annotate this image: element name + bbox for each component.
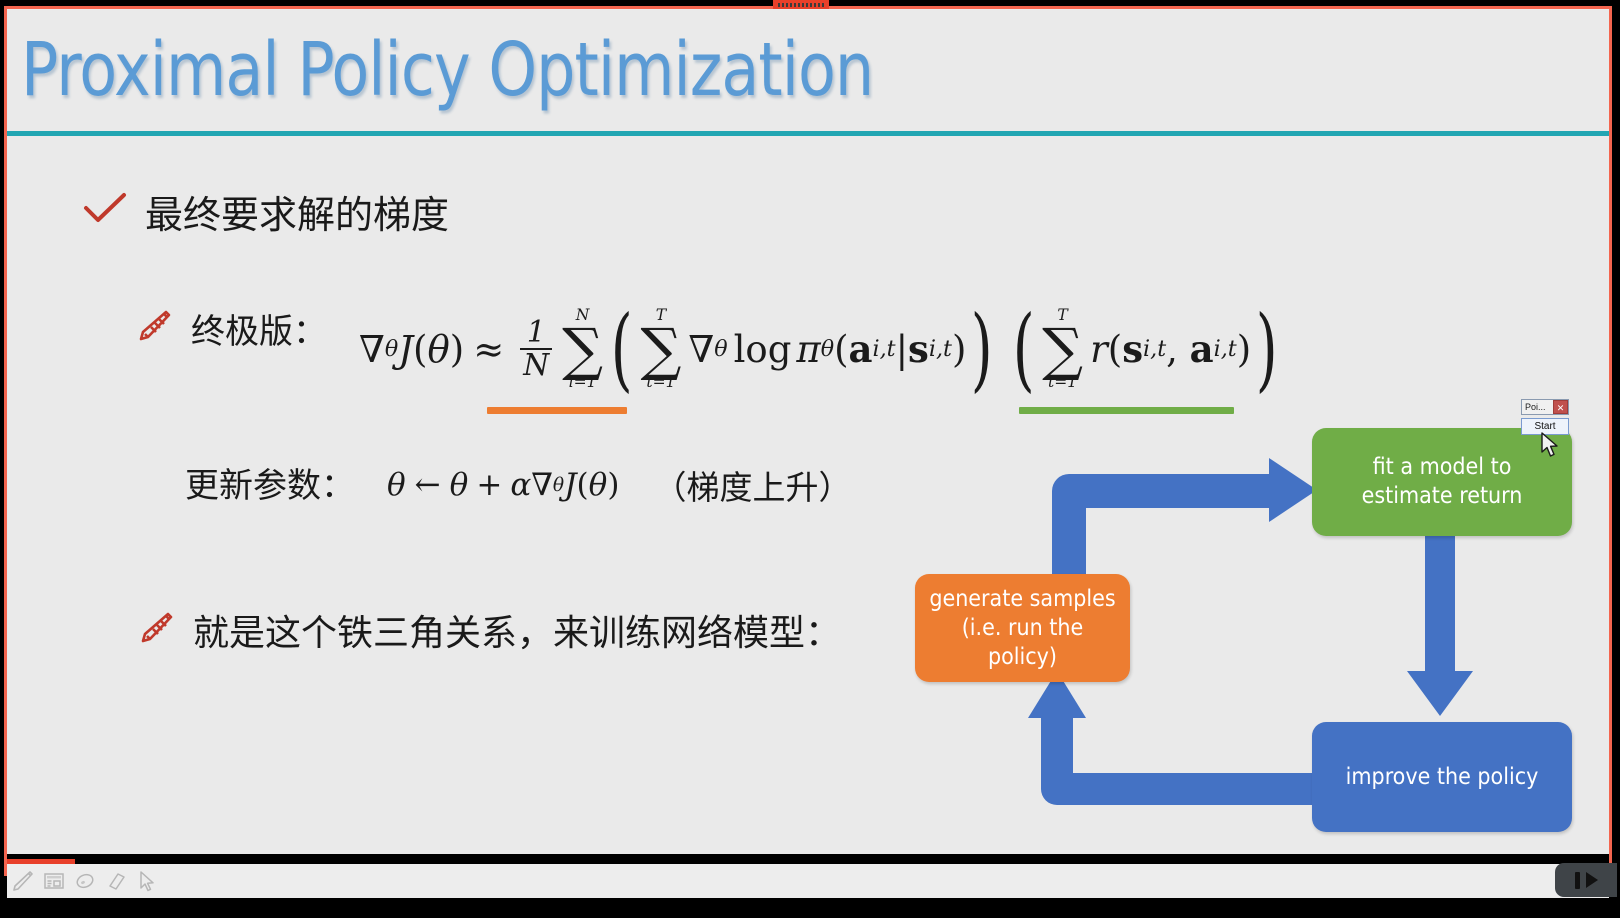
flow-box-generate-samples-label: generate samples(i.e. run the policy): [925, 585, 1120, 672]
pointer-icon[interactable]: [133, 868, 160, 895]
mouse-cursor-icon: [1541, 432, 1561, 463]
presentation-window: Proximal Policy Optimization 最终要求解的梯度: [0, 0, 1620, 918]
flow-box-improve-policy[interactable]: improve the policy: [1312, 722, 1572, 832]
slide-surface: Proximal Policy Optimization 最终要求解的梯度: [7, 9, 1609, 854]
highlighter-icon[interactable]: [71, 868, 98, 895]
eraser-icon[interactable]: [102, 868, 129, 895]
slide-body: 最终要求解的梯度 终极版：: [7, 136, 1609, 854]
presenter-toolbar: [7, 864, 1609, 898]
close-icon[interactable]: ✕: [1553, 400, 1568, 414]
pointer-tool-panel[interactable]: Poi... ✕ Start: [1521, 399, 1569, 435]
slide-view-icon[interactable]: [40, 868, 67, 895]
advance-slide-button[interactable]: [1555, 863, 1617, 897]
flow-box-improve-policy-label: improve the policy: [1346, 763, 1539, 792]
window-bottom-edge: [0, 898, 1620, 918]
pointer-tool-titlebar[interactable]: Poi... ✕: [1521, 399, 1569, 415]
annotation-red-stroke: [7, 859, 75, 864]
toolbar-drag-grip[interactable]: [773, 0, 829, 9]
pause-bar-icon: [1575, 872, 1580, 889]
flow-box-fit-model-label: fit a model toestimate return: [1362, 453, 1523, 511]
flow-box-generate-samples[interactable]: generate samples(i.e. run the policy): [915, 574, 1130, 682]
rl-loop-diagram: fit a model toestimate return improve th…: [7, 136, 1609, 854]
page-title: Proximal Policy Optimization: [21, 27, 873, 113]
flow-box-fit-model[interactable]: fit a model toestimate return: [1312, 428, 1572, 536]
pointer-tool-title: Poi...: [1525, 402, 1546, 412]
slide-title-band: Proximal Policy Optimization: [7, 9, 1609, 131]
pen-icon[interactable]: [9, 868, 36, 895]
next-arrow-icon: [1586, 872, 1598, 888]
